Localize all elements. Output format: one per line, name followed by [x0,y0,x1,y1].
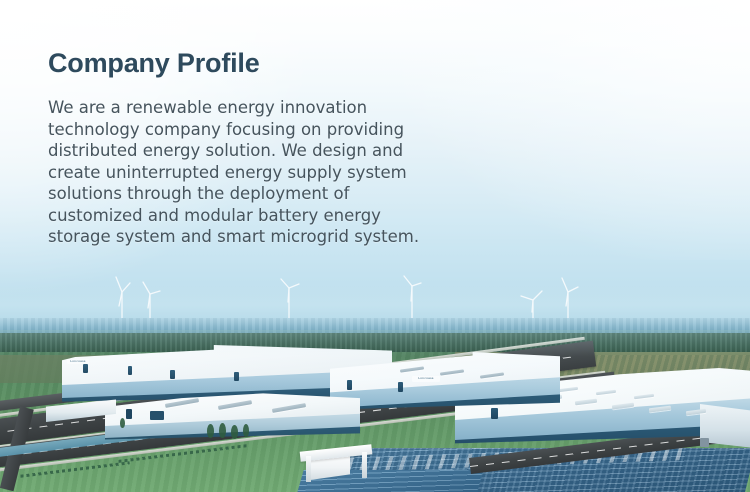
tree [219,423,226,438]
paragraph-line: technology company focusing on providing [48,119,500,141]
building-door [347,380,352,390]
tree [120,418,125,428]
paragraph-line: We are a renewable energy innovation [48,97,500,119]
building-door [128,366,132,375]
paragraph-line: distributed energy solution. We design a… [48,140,500,162]
building-entrance [150,411,164,420]
page-title: Company Profile [48,46,548,80]
paragraph-line: storage system and smart microgrid syste… [48,226,500,248]
building-door [170,370,175,379]
building-signage: Loncoess [67,359,89,364]
paragraph-line: customized and modular battery energy [48,205,500,227]
building-signage: Loncoess [412,376,440,382]
paragraph-line: solutions through the deployment of [48,183,500,205]
gatehouse-post [306,456,311,482]
building-door [398,382,403,392]
tree [243,424,249,437]
paragraph-line: create uninterrupted energy supply syste… [48,162,500,184]
copy-block: Company Profile We are a renewable energ… [48,46,548,248]
building-door [83,364,88,373]
building-entrance [126,409,132,419]
building-door [234,372,239,381]
tree [207,424,214,438]
gatehouse-post [362,452,367,478]
building-door [700,438,709,447]
company-profile-banner: Loncoess Loncoess [0,0,750,492]
profile-paragraph: We are a renewable energy innovation tec… [48,97,500,248]
building-door [491,408,498,419]
tree [231,425,238,439]
